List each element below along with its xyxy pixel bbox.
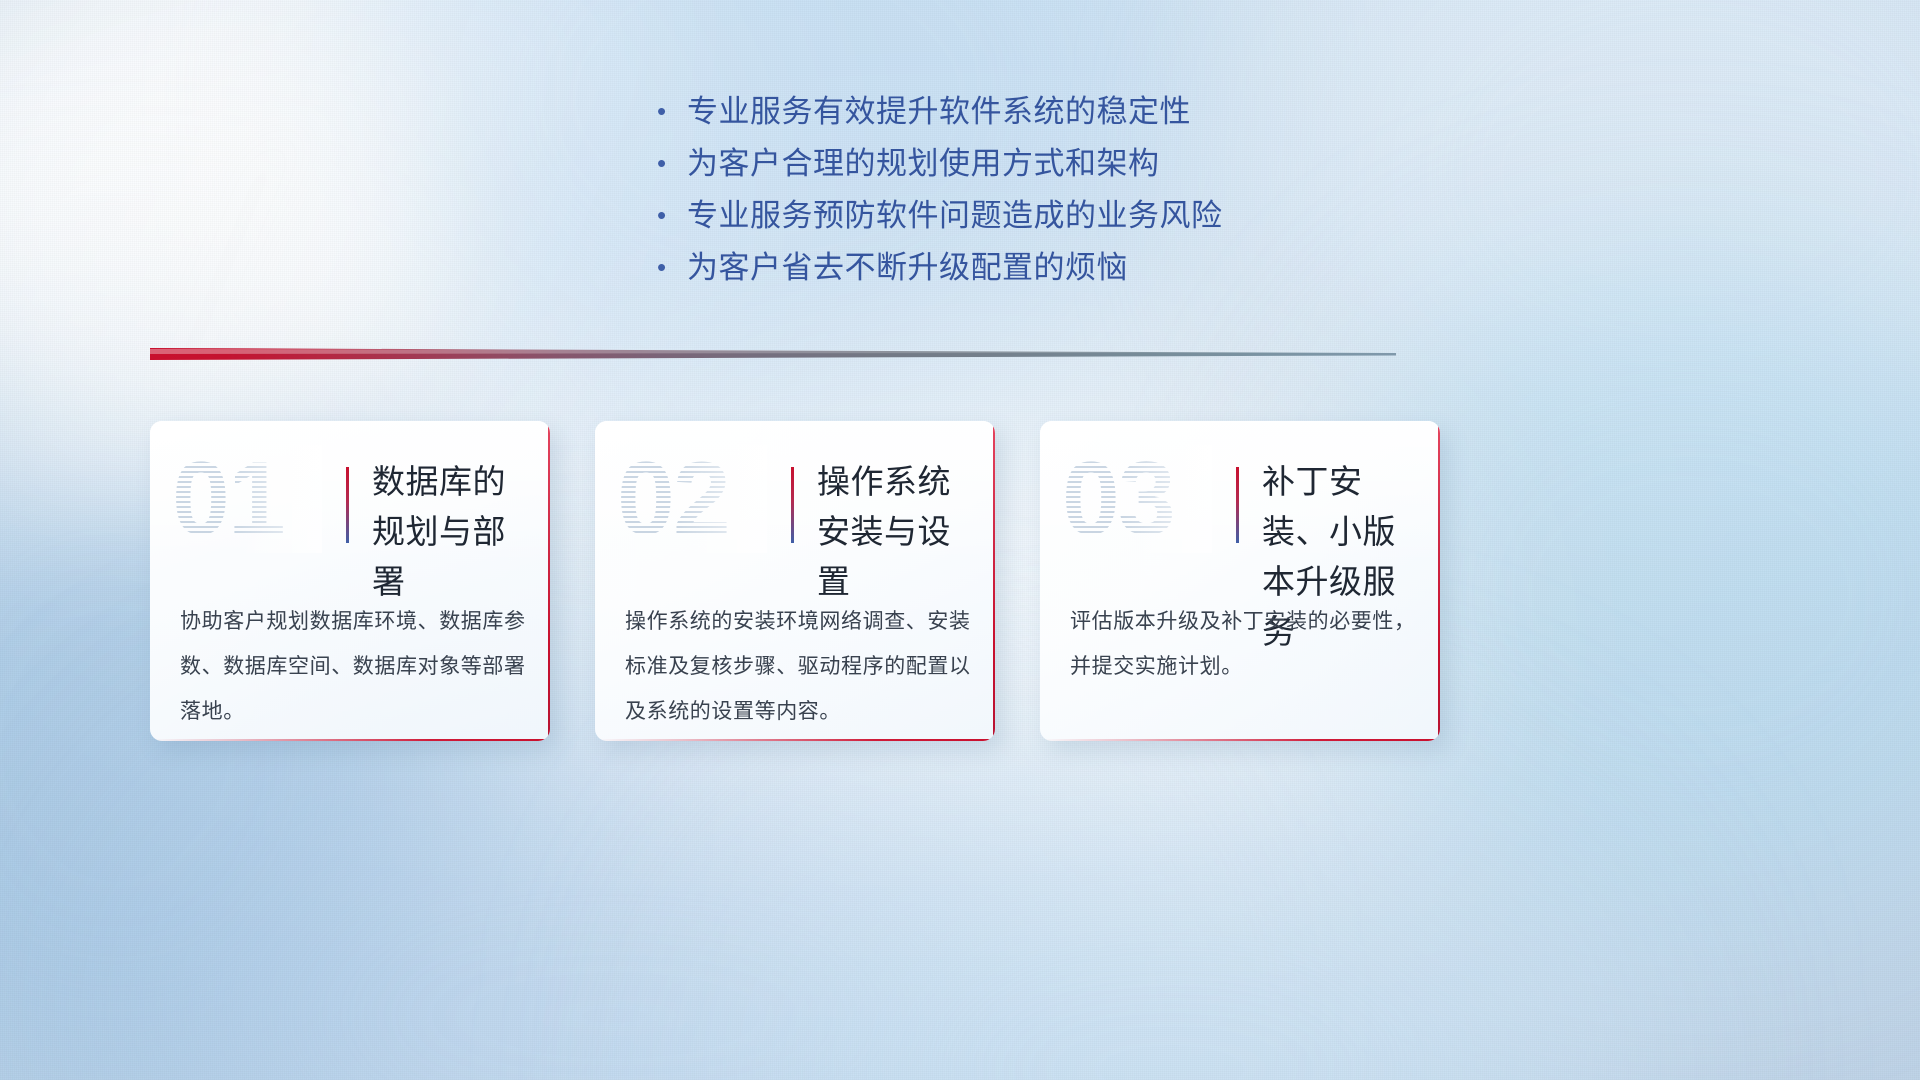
card-header: 01 数据库的规划与部署: [150, 421, 550, 591]
bullet-dot-icon: •: [657, 150, 687, 176]
bullet-item-text: 为客户省去不断升级配置的烦恼: [687, 242, 1128, 294]
card-accent-bar: [346, 467, 349, 543]
card-title: 操作系统安装与设置: [817, 457, 981, 607]
bullet-dot-icon: •: [657, 202, 687, 228]
card-description: 评估版本升级及补丁安装的必要性，并提交实施计划。: [1070, 599, 1416, 689]
card-title: 数据库的规划与部署: [372, 457, 536, 607]
card-accent-bar: [1236, 467, 1239, 543]
list-item: • 专业服务有效提升软件系统的稳定性: [645, 86, 1275, 138]
card-header: 02 操作系统安装与设置: [595, 421, 995, 591]
bullet-dot-icon: •: [657, 98, 687, 124]
card-bottom-accent-border: [150, 739, 550, 741]
list-item: • 为客户合理的规划使用方式和架构: [645, 138, 1275, 190]
card-number: 02: [617, 445, 767, 553]
card-number: 03: [1062, 445, 1212, 553]
bullet-item-text: 专业服务预防软件问题造成的业务风险: [687, 190, 1223, 242]
service-card-list: 01 数据库的规划与部署 协助客户规划数据库环境、数据库参数、数据库空间、数据库…: [150, 421, 1440, 741]
list-item: • 专业服务预防软件问题造成的业务风险: [645, 190, 1275, 242]
card-number: 01: [172, 445, 322, 553]
card-description: 操作系统的安装环境网络调查、安装标准及复核步骤、驱动程序的配置以及系统的设置等内…: [625, 599, 971, 734]
section-divider: [150, 348, 1396, 364]
service-card-02[interactable]: 02 操作系统安装与设置 操作系统的安装环境网络调查、安装标准及复核步骤、驱动程…: [595, 421, 995, 741]
card-accent-bar: [791, 467, 794, 543]
card-bottom-accent-border: [595, 739, 995, 741]
bullet-item-text: 专业服务有效提升软件系统的稳定性: [687, 86, 1191, 138]
card-description: 协助客户规划数据库环境、数据库参数、数据库空间、数据库对象等部署落地。: [180, 599, 526, 734]
list-item: • 为客户省去不断升级配置的烦恼: [645, 242, 1275, 294]
card-header: 03 补丁安装、小版本升级服务: [1040, 421, 1440, 591]
bullet-item-text: 为客户合理的规划使用方式和架构: [687, 138, 1160, 190]
service-card-01[interactable]: 01 数据库的规划与部署 协助客户规划数据库环境、数据库参数、数据库空间、数据库…: [150, 421, 550, 741]
bullet-dot-icon: •: [657, 254, 687, 280]
service-card-03[interactable]: 03 补丁安装、小版本升级服务 评估版本升级及补丁安装的必要性，并提交实施计划。: [1040, 421, 1440, 741]
card-bottom-accent-border: [1040, 739, 1440, 741]
benefits-bullet-list: • 专业服务有效提升软件系统的稳定性 • 为客户合理的规划使用方式和架构 • 专…: [0, 86, 1920, 294]
